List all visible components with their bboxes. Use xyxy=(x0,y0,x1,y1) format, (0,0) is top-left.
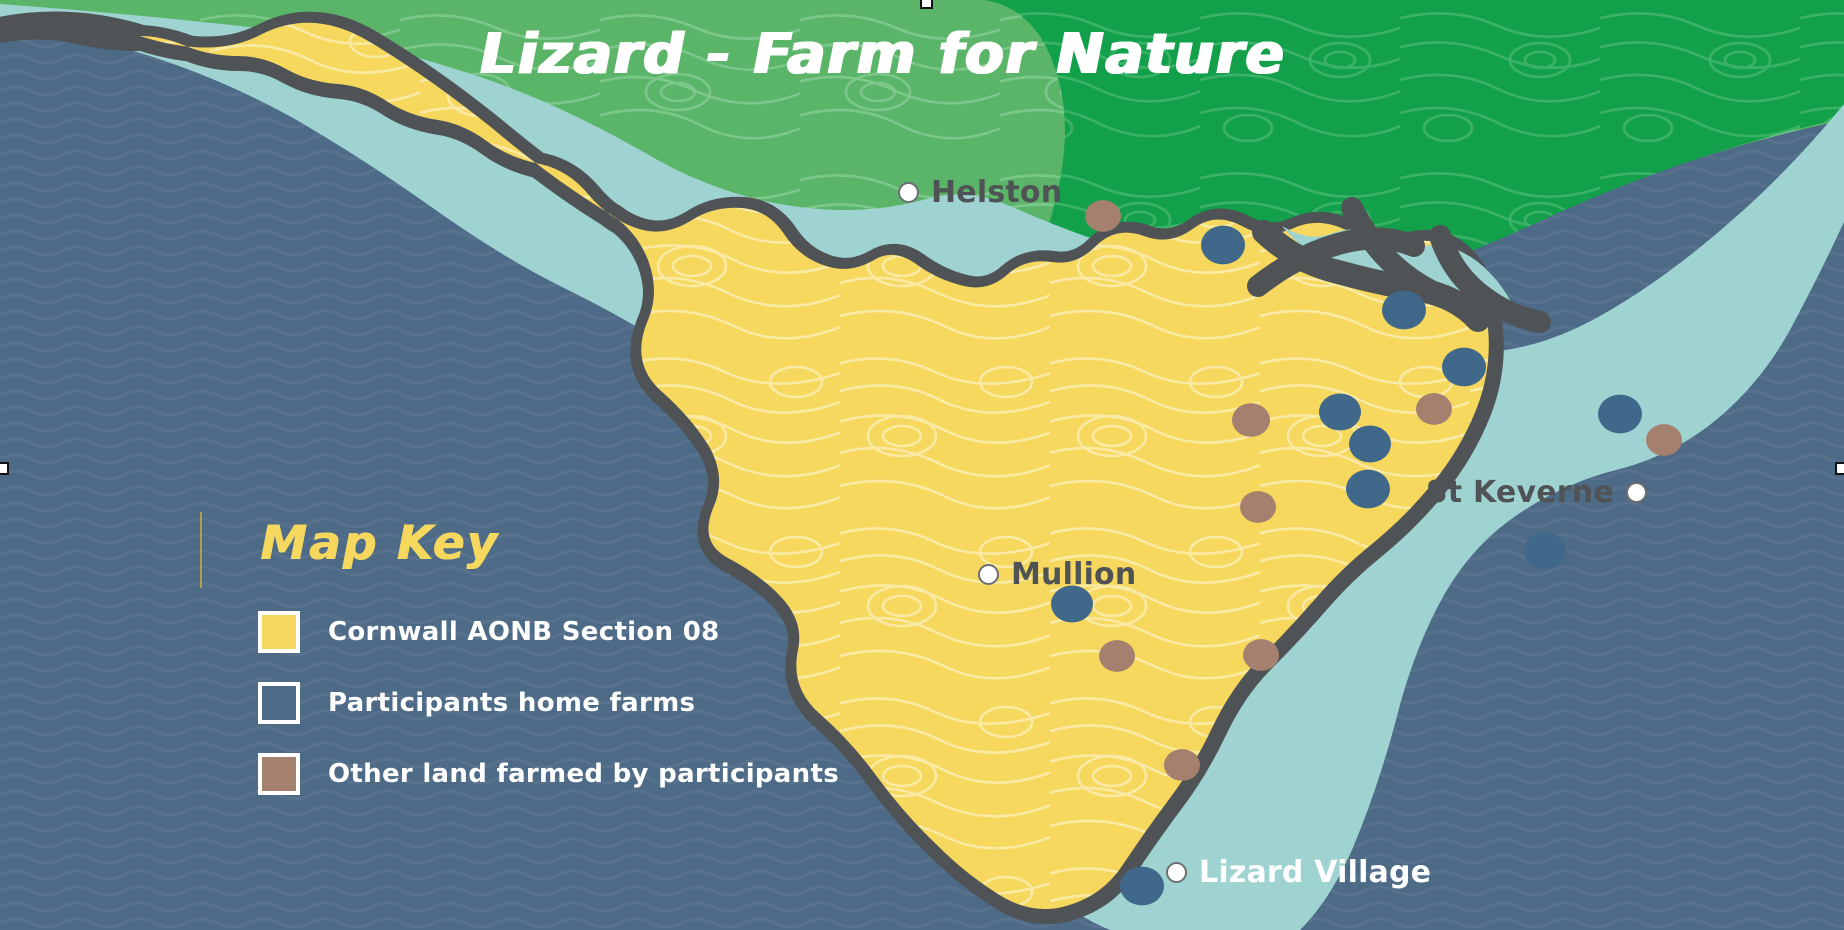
key-label-aonb: Cornwall AONB Section 08 xyxy=(328,617,720,647)
settlement-marker-icon xyxy=(978,564,999,585)
settlement-label: St Keverne xyxy=(1426,475,1614,510)
home-farm-dot xyxy=(1382,291,1426,330)
map-key-heading: Map Key xyxy=(260,520,499,567)
other-land-dot xyxy=(1164,749,1200,781)
key-item-home-farms: Participants home farms xyxy=(258,682,878,724)
swatch-home-farms-blue xyxy=(258,682,300,724)
key-item-aonb: Cornwall AONB Section 08 xyxy=(258,611,878,653)
swatch-aonb-yellow xyxy=(258,611,300,653)
home-farm-dot xyxy=(1349,426,1391,463)
other-land-dot xyxy=(1085,200,1121,232)
other-land-dot xyxy=(1240,491,1276,523)
key-item-other-land: Other land farmed by participants xyxy=(258,753,878,795)
map-image-canvas[interactable]: Lizard - Farm for Nature Map Key Cornwal… xyxy=(0,0,1844,930)
map-key-panel: Map Key Cornwall AONB Section 08 Partici… xyxy=(258,520,878,824)
home-farm-dot xyxy=(1201,226,1245,265)
other-land-dot xyxy=(1416,393,1452,425)
resize-handle-top-center[interactable] xyxy=(920,0,933,9)
settlement-st-keverne: St Keverne xyxy=(1426,475,1647,510)
key-label-home-farms: Participants home farms xyxy=(328,688,695,718)
swatch-other-land-brown xyxy=(258,753,300,795)
map-title: Lizard - Farm for Nature xyxy=(480,22,1285,87)
other-land-dot xyxy=(1243,639,1279,671)
home-farm-dot xyxy=(1120,867,1164,906)
settlement-label: Helston xyxy=(931,175,1062,210)
settlement-marker-icon xyxy=(1626,482,1647,503)
settlement-marker-icon xyxy=(1166,862,1187,883)
settlement-mullion: Mullion xyxy=(978,557,1136,592)
settlement-helston: Helston xyxy=(898,175,1062,210)
resize-handle-middle-right[interactable] xyxy=(1835,462,1844,475)
settlement-lizard-village: Lizard Village xyxy=(1166,855,1431,890)
text-cursor-caret xyxy=(200,512,202,588)
other-land-dot xyxy=(1232,403,1270,436)
other-land-dot xyxy=(1646,424,1682,456)
key-label-other-land: Other land farmed by participants xyxy=(328,759,839,789)
resize-handle-middle-left[interactable] xyxy=(0,462,9,475)
other-land-dot xyxy=(1099,640,1135,672)
settlement-label: Lizard Village xyxy=(1199,855,1431,890)
home-farm-dot xyxy=(1346,470,1390,509)
settlement-marker-icon xyxy=(898,182,919,203)
home-farm-dot xyxy=(1598,395,1642,434)
home-farm-dot xyxy=(1319,394,1361,431)
home-farm-dot xyxy=(1442,348,1486,387)
home-farm-dot xyxy=(1524,533,1566,570)
settlement-label: Mullion xyxy=(1011,557,1136,592)
